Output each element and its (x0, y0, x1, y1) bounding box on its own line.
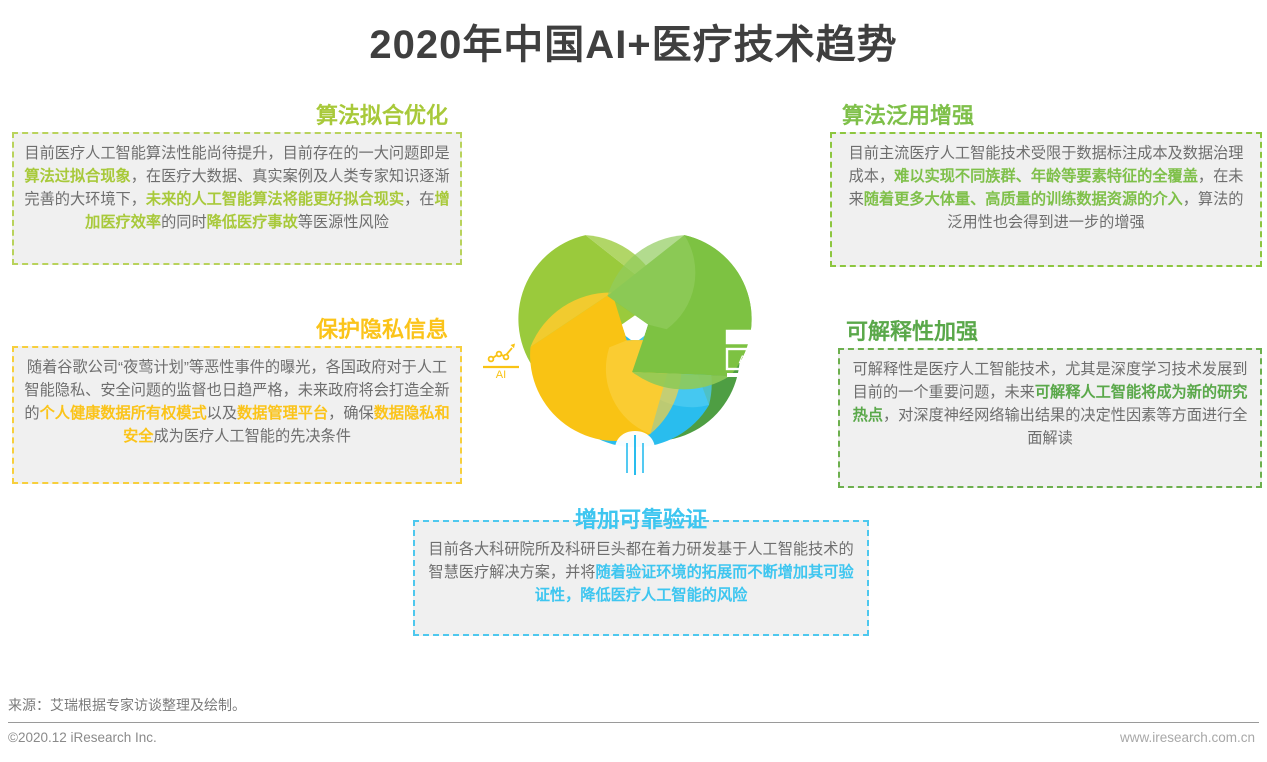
emphasis-text: 降低医疗事故 (207, 214, 298, 231)
emphasis-text: 难以实现不同族群、年龄等要素特征的全覆盖 (894, 168, 1198, 185)
footer-divider (8, 722, 1259, 723)
body-text: 目前医疗人工智能算法性能尚待提升，目前存在的一大问题即是 (24, 145, 449, 162)
icon-label-ai: AI (544, 195, 554, 207)
panel-body-reliable-verification: 目前各大科研院所及科研巨头都在着力研发基于人工智能技术的智慧医疗解决方案，并将随… (413, 520, 869, 636)
panel-algorithm-fit: 算法拟合优化 目前医疗人工智能算法性能尚待提升，目前存在的一大问题即是算法过拟合… (12, 104, 462, 265)
panel-heading-reliable-verification: 增加可靠验证 (413, 508, 869, 532)
panel-body-privacy-protection: 随着谷歌公司“夜莺计划”等恶性事件的曝光，各国政府对于人工智能隐私、安全问题的监… (12, 346, 462, 484)
body-text: 以及 (207, 405, 237, 422)
ai-document-graph-icon: AI (531, 159, 567, 207)
panel-algorithm-generalization: 算法泛用增强 目前主流医疗人工智能技术受限于数据标注成本及数据治理成本，难以实现… (830, 104, 1262, 267)
body-text: ，确保 (328, 405, 374, 422)
panel-body-algorithm-generalization: 目前主流医疗人工智能技术受限于数据标注成本及数据治理成本，难以实现不同族群、年龄… (830, 132, 1262, 267)
panel-heading-algorithm-generalization: 算法泛用增强 (830, 104, 1262, 128)
page-title: 2020年中国AI+医疗技术趋势 (0, 12, 1267, 70)
panel-body-algorithm-fit: 目前医疗人工智能算法性能尚待提升，目前存在的一大问题即是算法过拟合现象，在医疗大… (12, 132, 462, 265)
five-petal-diagram: AI AI (459, 133, 811, 493)
panel-heading-explainability: 可解释性加强 (838, 320, 1262, 344)
body-text: 等医源性风险 (298, 214, 389, 231)
emphasis-text: 随着更多大体量、高质量的训练数据资源的介入 (864, 191, 1183, 208)
body-text: ，对深度神经网络输出结果的决定性因素等方面进行全面解读 (883, 407, 1248, 447)
body-text: ，在 (404, 191, 434, 208)
emphasis-text: 数据管理平台 (237, 405, 328, 422)
people-hierarchy-icon (701, 164, 749, 212)
panel-heading-algorithm-fit: 算法拟合优化 (12, 104, 462, 128)
website-url: www.iresearch.com.cn (1120, 730, 1255, 745)
icon-label-ai: AI (496, 369, 506, 381)
panel-body-explainability: 可解释性是医疗人工智能技术，尤其是深度学习技术发展到目前的一个重要问题，未来可解… (838, 348, 1262, 488)
panel-reliable-verification: 增加可靠验证 目前各大科研院所及科研巨头都在着力研发基于人工智能技术的智慧医疗解… (413, 508, 869, 636)
copyright-text: ©2020.12 iResearch Inc. (8, 730, 157, 745)
emphasis-text: 算法过拟合现象 (24, 168, 130, 185)
panel-heading-privacy-protection: 保护隐私信息 (12, 318, 462, 342)
emphasis-text: 个人健康数据所有权模式 (40, 405, 207, 422)
ai-document-graph-icon-left: AI (483, 333, 519, 381)
icon-label-ai: AI (739, 354, 749, 366)
body-text: 的同时 (161, 214, 207, 231)
source-note: 来源：艾瑞根据专家访谈整理及绘制。 (8, 695, 246, 715)
panel-explainability: 可解释性加强 可解释性是医疗人工智能技术，尤其是深度学习技术发展到目前的一个重要… (838, 320, 1262, 488)
body-text: 成为医疗人工智能的先决条件 (153, 428, 350, 445)
emphasis-text: 未来的人工智能算法将能更好拟合现实 (146, 191, 404, 208)
panel-privacy-protection: 保护隐私信息 随着谷歌公司“夜莺计划”等恶性事件的曝光，各国政府对于人工智能隐私… (12, 318, 462, 484)
